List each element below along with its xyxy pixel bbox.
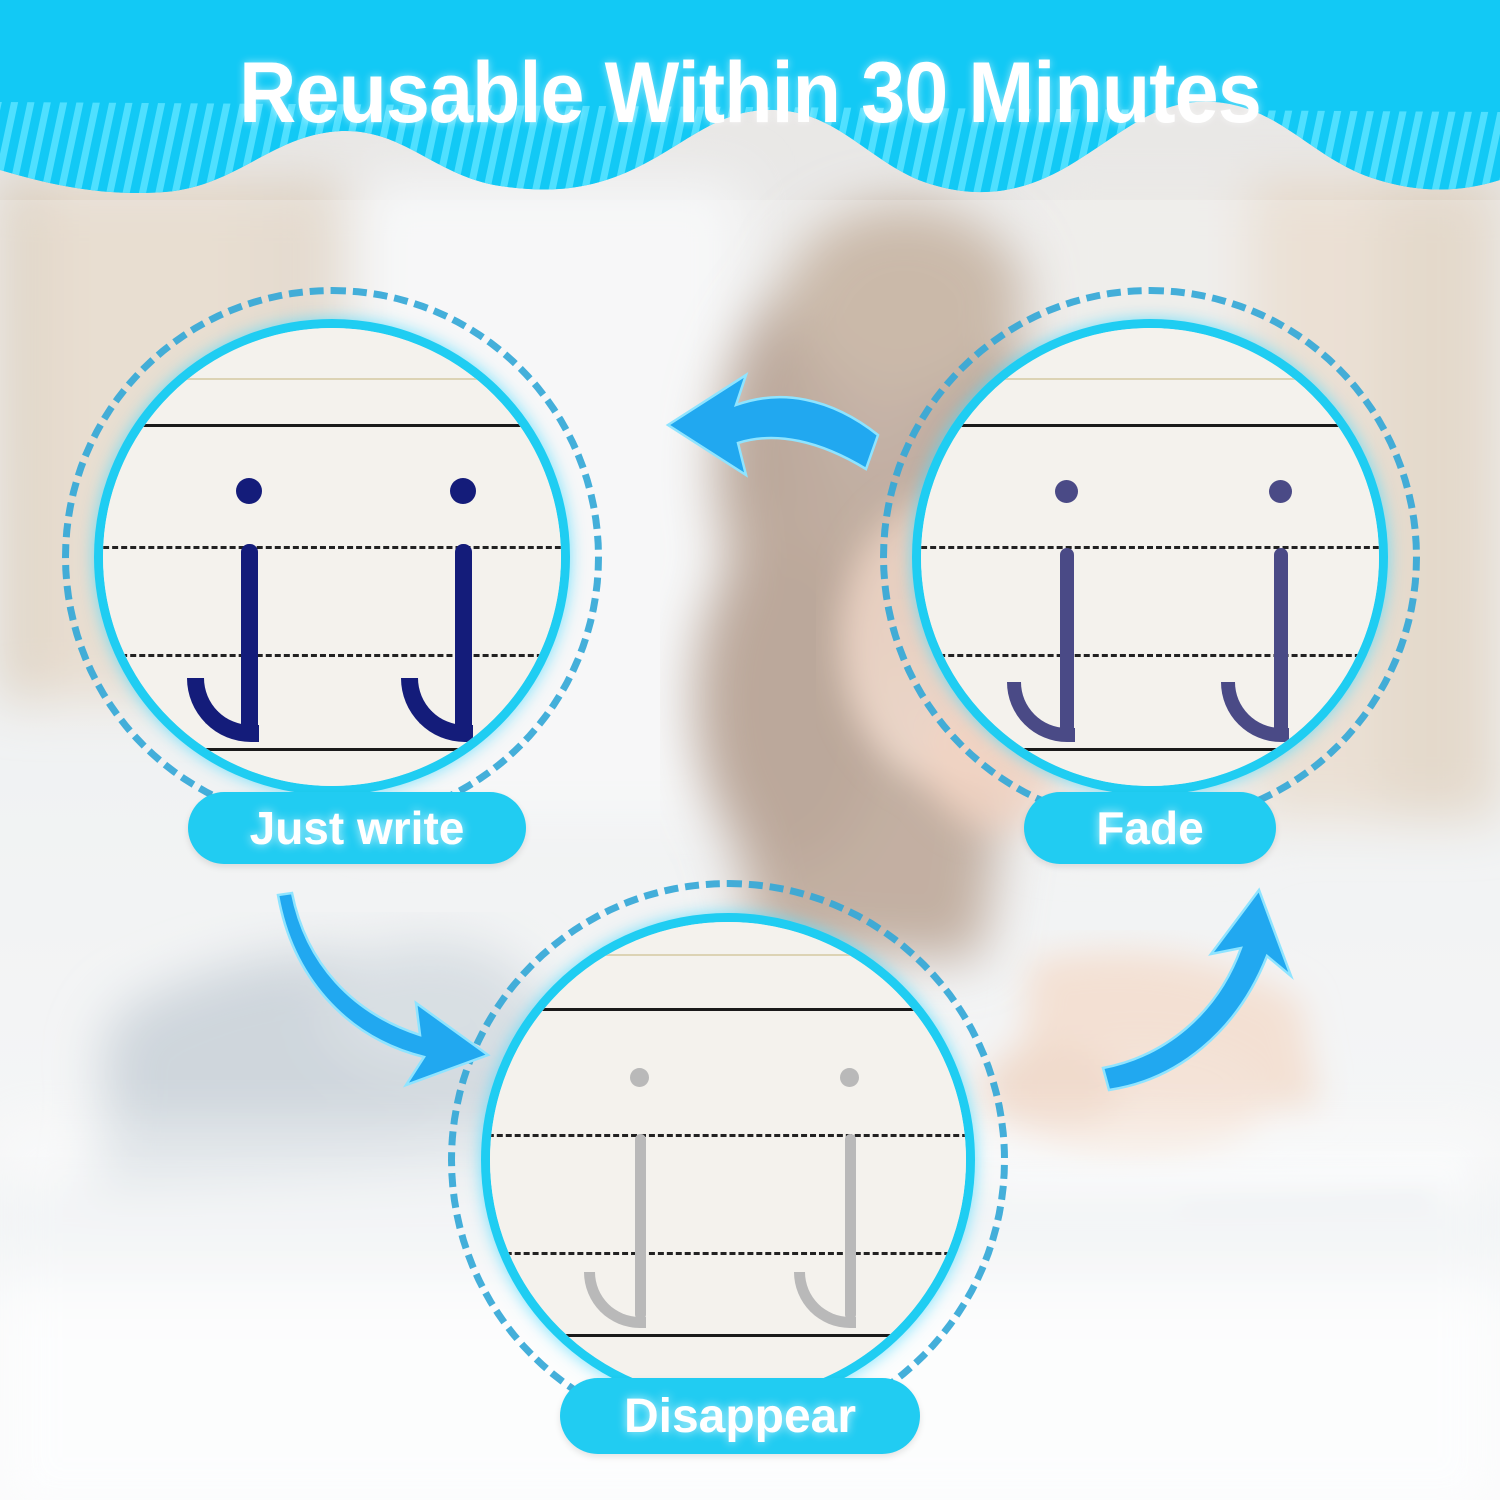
header-banner: Reusable Within 30 Minutes xyxy=(0,0,1500,215)
arrow-disappear-to-fade xyxy=(1095,880,1345,1095)
arrow-just-write-to-disappear xyxy=(248,885,498,1100)
circle-window-disappear: 1 2 1 xyxy=(481,913,975,1407)
circle-window-just-write: 1 2 xyxy=(94,319,570,795)
worksheet-just-write: 1 2 xyxy=(103,328,561,786)
step-label-text: Disappear xyxy=(624,1389,856,1444)
step-label-disappear: Disappear xyxy=(560,1378,920,1454)
step-panel-fade: 1 2 xyxy=(880,287,1420,827)
worksheet-fade: 1 2 xyxy=(921,328,1379,786)
circle-window-fade: 1 2 xyxy=(912,319,1388,795)
step-panel-disappear: 1 2 1 xyxy=(448,880,1008,1440)
worksheet-disappear: 1 2 1 xyxy=(490,922,966,1398)
arrow-fade-to-just-write xyxy=(620,345,880,505)
page-title: Reusable Within 30 Minutes xyxy=(60,44,1440,143)
step-label-text: Fade xyxy=(1096,801,1203,855)
step-label-just-write: Just write xyxy=(188,792,526,864)
step-label-text: Just write xyxy=(250,801,465,855)
step-panel-just-write: 1 2 xyxy=(62,287,602,827)
step-label-fade: Fade xyxy=(1024,792,1276,864)
